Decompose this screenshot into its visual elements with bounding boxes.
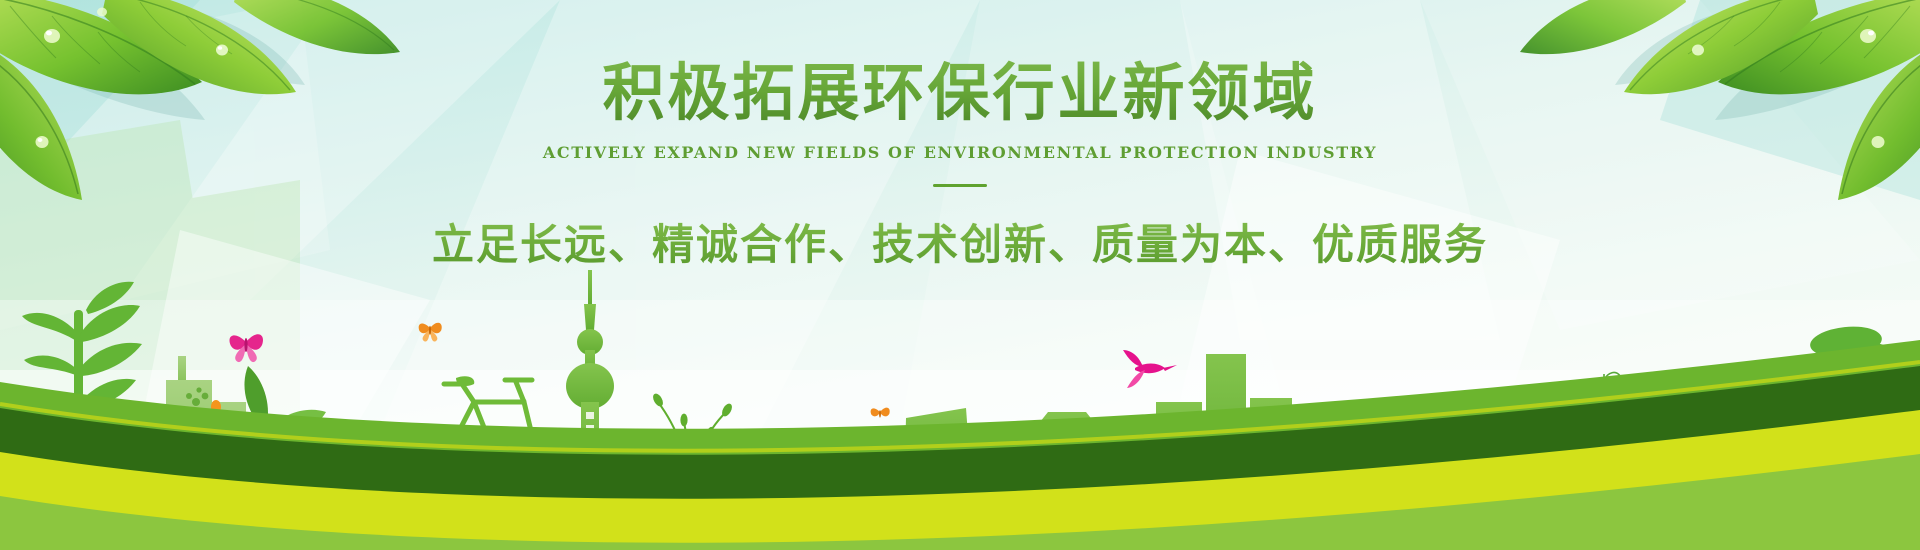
tagline: 立足长远、精诚合作、技术创新、质量为本、优质服务: [0, 211, 1920, 272]
title-divider: [933, 184, 987, 187]
text-block: 积极拓展环保行业新领域 ACTIVELY EXPAND NEW FIELDS O…: [0, 58, 1920, 272]
page-title: 积极拓展环保行业新领域: [0, 58, 1920, 127]
wave-bands: [0, 300, 1920, 550]
eco-banner: 积极拓展环保行业新领域 ACTIVELY EXPAND NEW FIELDS O…: [0, 0, 1920, 550]
subtitle-english: ACTIVELY EXPAND NEW FIELDS OF ENVIRONMEN…: [0, 143, 1920, 162]
